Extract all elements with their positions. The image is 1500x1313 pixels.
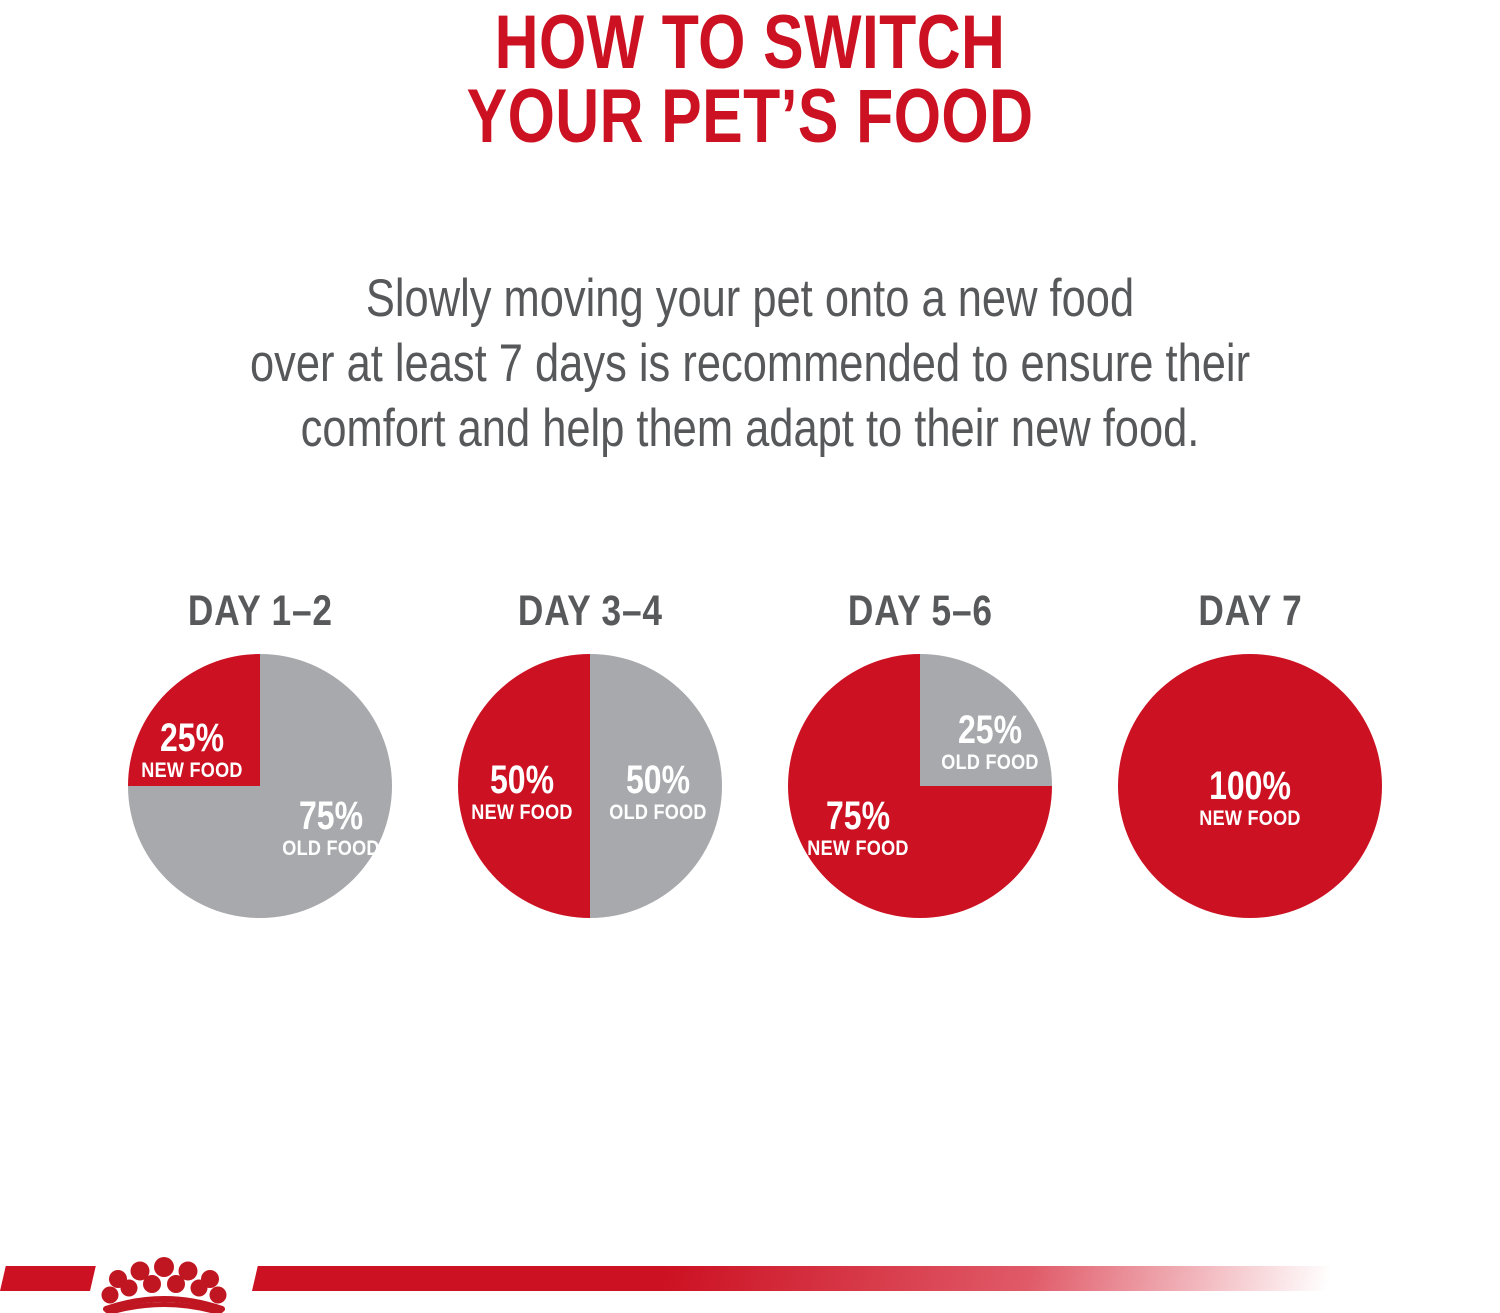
intro-line-3: comfort and help them adapt to their new…: [135, 396, 1365, 461]
pie-slice-new-food: [128, 654, 260, 786]
pie-graphic-day-3-4: 50% NEW FOOD 50% OLD FOOD: [452, 648, 728, 924]
pie-slice-old-food: [590, 654, 722, 918]
pie-chart-day-7: DAY 7 100% NEW FOOD: [1085, 588, 1415, 924]
pie-graphic-day-1-2: 25% NEW FOOD 75% OLD FOOD: [122, 648, 398, 924]
pie-chart-day-3-4: DAY 3–4 50% NEW FOOD 50% OLD FOOD: [425, 588, 755, 924]
pie-chart-day-1-2: DAY 1–2 25% NEW FOOD 75% OLD FOOD: [95, 588, 425, 924]
day-label-4: DAY 7: [1198, 588, 1302, 634]
page-title-line-2: YOUR PET’S FOOD: [150, 80, 1350, 154]
intro-line-1: Slowly moving your pet onto a new food: [135, 266, 1365, 331]
pie-chart-row: DAY 1–2 25% NEW FOOD 75% OLD FOOD DAY 3–…: [95, 588, 1415, 924]
footer-bar-right: [252, 1266, 1333, 1291]
day-label-3: DAY 5–6: [848, 588, 993, 634]
pie-graphic-day-7: 100% NEW FOOD: [1112, 648, 1388, 924]
pie-chart-day-5-6: DAY 5–6 25% OLD FOOD 75% NEW FOOD: [755, 588, 1085, 924]
pie-graphic-day-5-6: 25% OLD FOOD 75% NEW FOOD: [782, 648, 1058, 924]
intro-line-2: over at least 7 days is recommended to e…: [135, 331, 1365, 396]
intro-paragraph: Slowly moving your pet onto a new food o…: [0, 266, 1500, 461]
page-title: HOW TO SWITCH YOUR PET’S FOOD: [0, 6, 1500, 154]
footer-bar-left: [0, 1266, 96, 1291]
page-title-line-1: HOW TO SWITCH: [150, 6, 1350, 80]
royal-canin-crown-icon: [88, 1255, 240, 1313]
pie-slice-old-food: [920, 654, 1052, 786]
pie-slice-new-food: [458, 654, 590, 918]
day-label-1: DAY 1–2: [188, 588, 333, 634]
footer: [0, 1255, 1500, 1313]
pie-slice-new-food: [1118, 654, 1382, 918]
day-label-2: DAY 3–4: [518, 588, 663, 634]
